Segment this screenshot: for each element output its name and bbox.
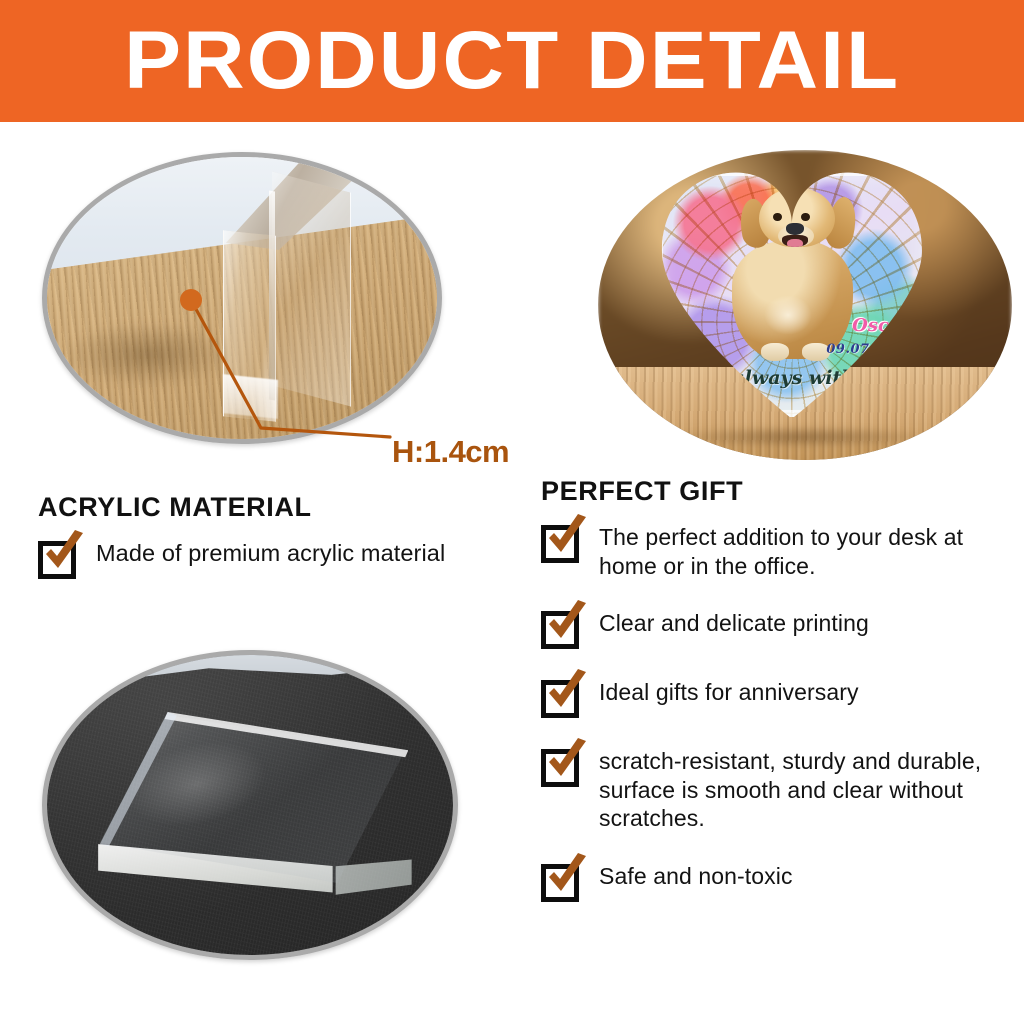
dog-chest-highlight (764, 295, 812, 335)
list-item: The perfect addition to your desk at hom… (541, 523, 1001, 580)
plaque-date: 09.07.2022 (826, 342, 912, 357)
checkmark-icon (543, 851, 591, 901)
checkbox-checked[interactable] (38, 541, 76, 579)
dog-body (732, 241, 853, 359)
checkbox-checked[interactable] (541, 864, 579, 902)
section-perfect-gift-title: PERFECT GIFT (541, 476, 1001, 507)
checkmark-icon (543, 512, 591, 562)
section-perfect-gift: PERFECT GIFT The perfect addition to you… (541, 476, 1001, 931)
list-item: scratch-resistant, sturdy and durable, s… (541, 747, 1001, 833)
checkbox-checked[interactable] (541, 525, 579, 563)
callout-leader-line (191, 300, 390, 437)
checkbox-checked[interactable] (541, 611, 579, 649)
dog-tongue (787, 239, 803, 248)
list-item: Safe and non-toxic (541, 862, 1001, 902)
checkmark-icon (543, 736, 591, 786)
list-item-label: scratch-resistant, sturdy and durable, s… (599, 747, 1001, 833)
dog-eye-right (801, 213, 810, 222)
heart-acrylic-plaque: Oscar 09.07.2022 I am always with you (656, 169, 929, 417)
checkmark-icon (40, 528, 88, 578)
acrylic-material-feature-list: Made of premium acrylic material (38, 539, 518, 579)
checkbox-checked[interactable] (541, 749, 579, 787)
list-item-label: Clear and delicate printing (599, 609, 869, 638)
checkbox-checked[interactable] (541, 680, 579, 718)
callout-anchor-dot (180, 289, 202, 311)
list-item-label: Made of premium acrylic material (96, 539, 445, 568)
heart-artwork-clip: Oscar 09.07.2022 I am always with you (656, 169, 929, 417)
checkmark-icon (543, 667, 591, 717)
section-acrylic-material: ACRYLIC MATERIAL Made of premium acrylic… (38, 492, 518, 579)
list-item-label: The perfect addition to your desk at hom… (599, 523, 1001, 580)
acrylic-slab-photo (42, 650, 458, 960)
list-item: Clear and delicate printing (541, 609, 1001, 649)
list-item: Made of premium acrylic material (38, 539, 518, 579)
thickness-callout (150, 270, 420, 470)
plaque-shadow (673, 426, 930, 448)
golden-retriever-photo (730, 188, 861, 362)
list-item-label: Ideal gifts for anniversary (599, 678, 859, 707)
list-item-label: Safe and non-toxic (599, 862, 793, 891)
section-acrylic-material-title: ACRYLIC MATERIAL (38, 492, 518, 523)
heart-plaque-photo: Oscar 09.07.2022 I am always with you (598, 150, 1012, 460)
dog-paw-left (761, 343, 789, 361)
thickness-label: H:1.4cm (392, 434, 509, 470)
header-banner: PRODUCT DETAIL (0, 0, 1024, 122)
perfect-gift-feature-list: The perfect addition to your desk at hom… (541, 523, 1001, 902)
page-title: PRODUCT DETAIL (124, 20, 900, 102)
plaque-pet-name: Oscar (852, 317, 910, 335)
plaque-motto: I am always with you (678, 367, 899, 389)
checkmark-icon (543, 598, 591, 648)
list-item: Ideal gifts for anniversary (541, 678, 1001, 718)
